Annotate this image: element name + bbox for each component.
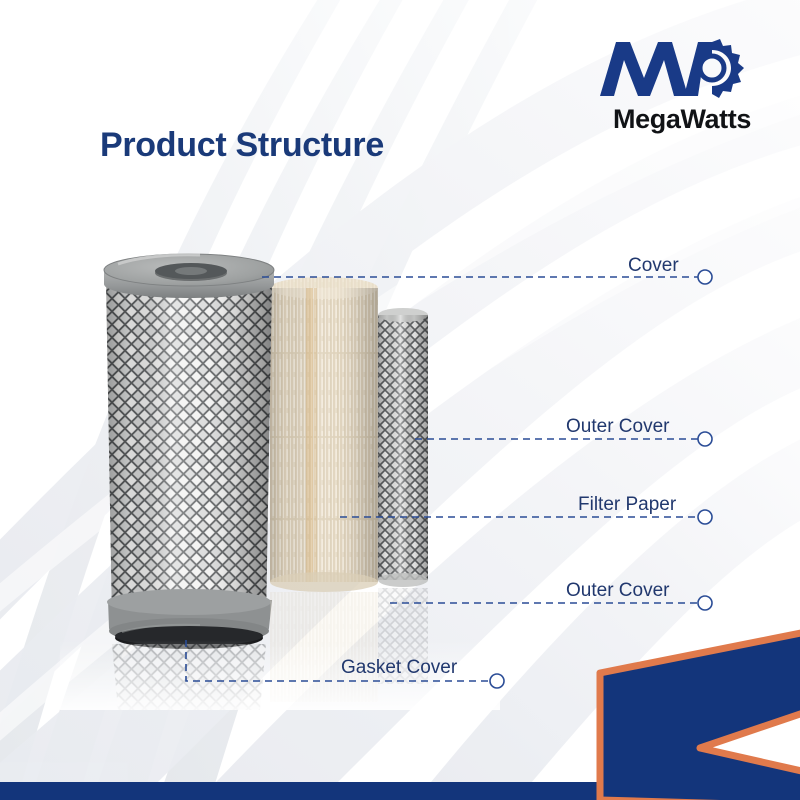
brand-wordmark: MegaWatts [592,104,772,135]
callout-dot-outer-cover-top[interactable] [698,432,712,446]
callout-label-gasket-cover: Gasket Cover [341,657,457,679]
poster-canvas: Cover Outer Cover Filter Paper Outer Cov… [0,0,800,800]
callout-dot-outer-cover-bottom[interactable] [698,596,712,610]
callout-dot-gasket-cover[interactable] [490,674,504,688]
brand-logo[interactable]: MegaWatts [592,34,772,144]
callout-dot-cover[interactable] [698,270,712,284]
callout-label-outer-cover-top: Outer Cover [566,416,669,438]
callout-dot-filter-paper[interactable] [698,510,712,524]
callout-label-outer-cover-bottom: Outer Cover [566,580,669,602]
callout-label-cover: Cover [628,255,679,277]
megawatts-mw-gear-logo-icon [592,34,772,104]
callout-label-filter-paper: Filter Paper [578,494,676,516]
